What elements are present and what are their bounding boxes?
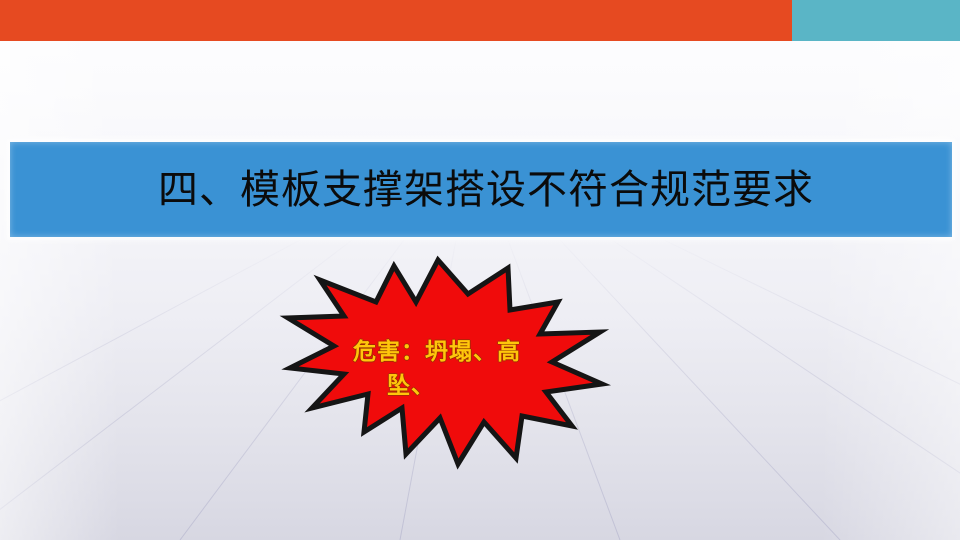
top-color-bar: [0, 0, 960, 41]
slide-title: 四、模板支撑架搭设不符合规范要求: [148, 168, 814, 212]
top-bar-teal-segment: [792, 0, 960, 41]
top-bar-orange-segment: [0, 0, 792, 41]
starburst-shape: [288, 260, 602, 464]
slide-canvas: 四、模板支撑架搭设不符合规范要求 危害：坍塌、高 坠、: [0, 0, 960, 540]
hazard-starburst-callout: 危害：坍塌、高 坠、: [272, 258, 602, 466]
title-banner: 四、模板支撑架搭设不符合规范要求: [10, 142, 952, 237]
